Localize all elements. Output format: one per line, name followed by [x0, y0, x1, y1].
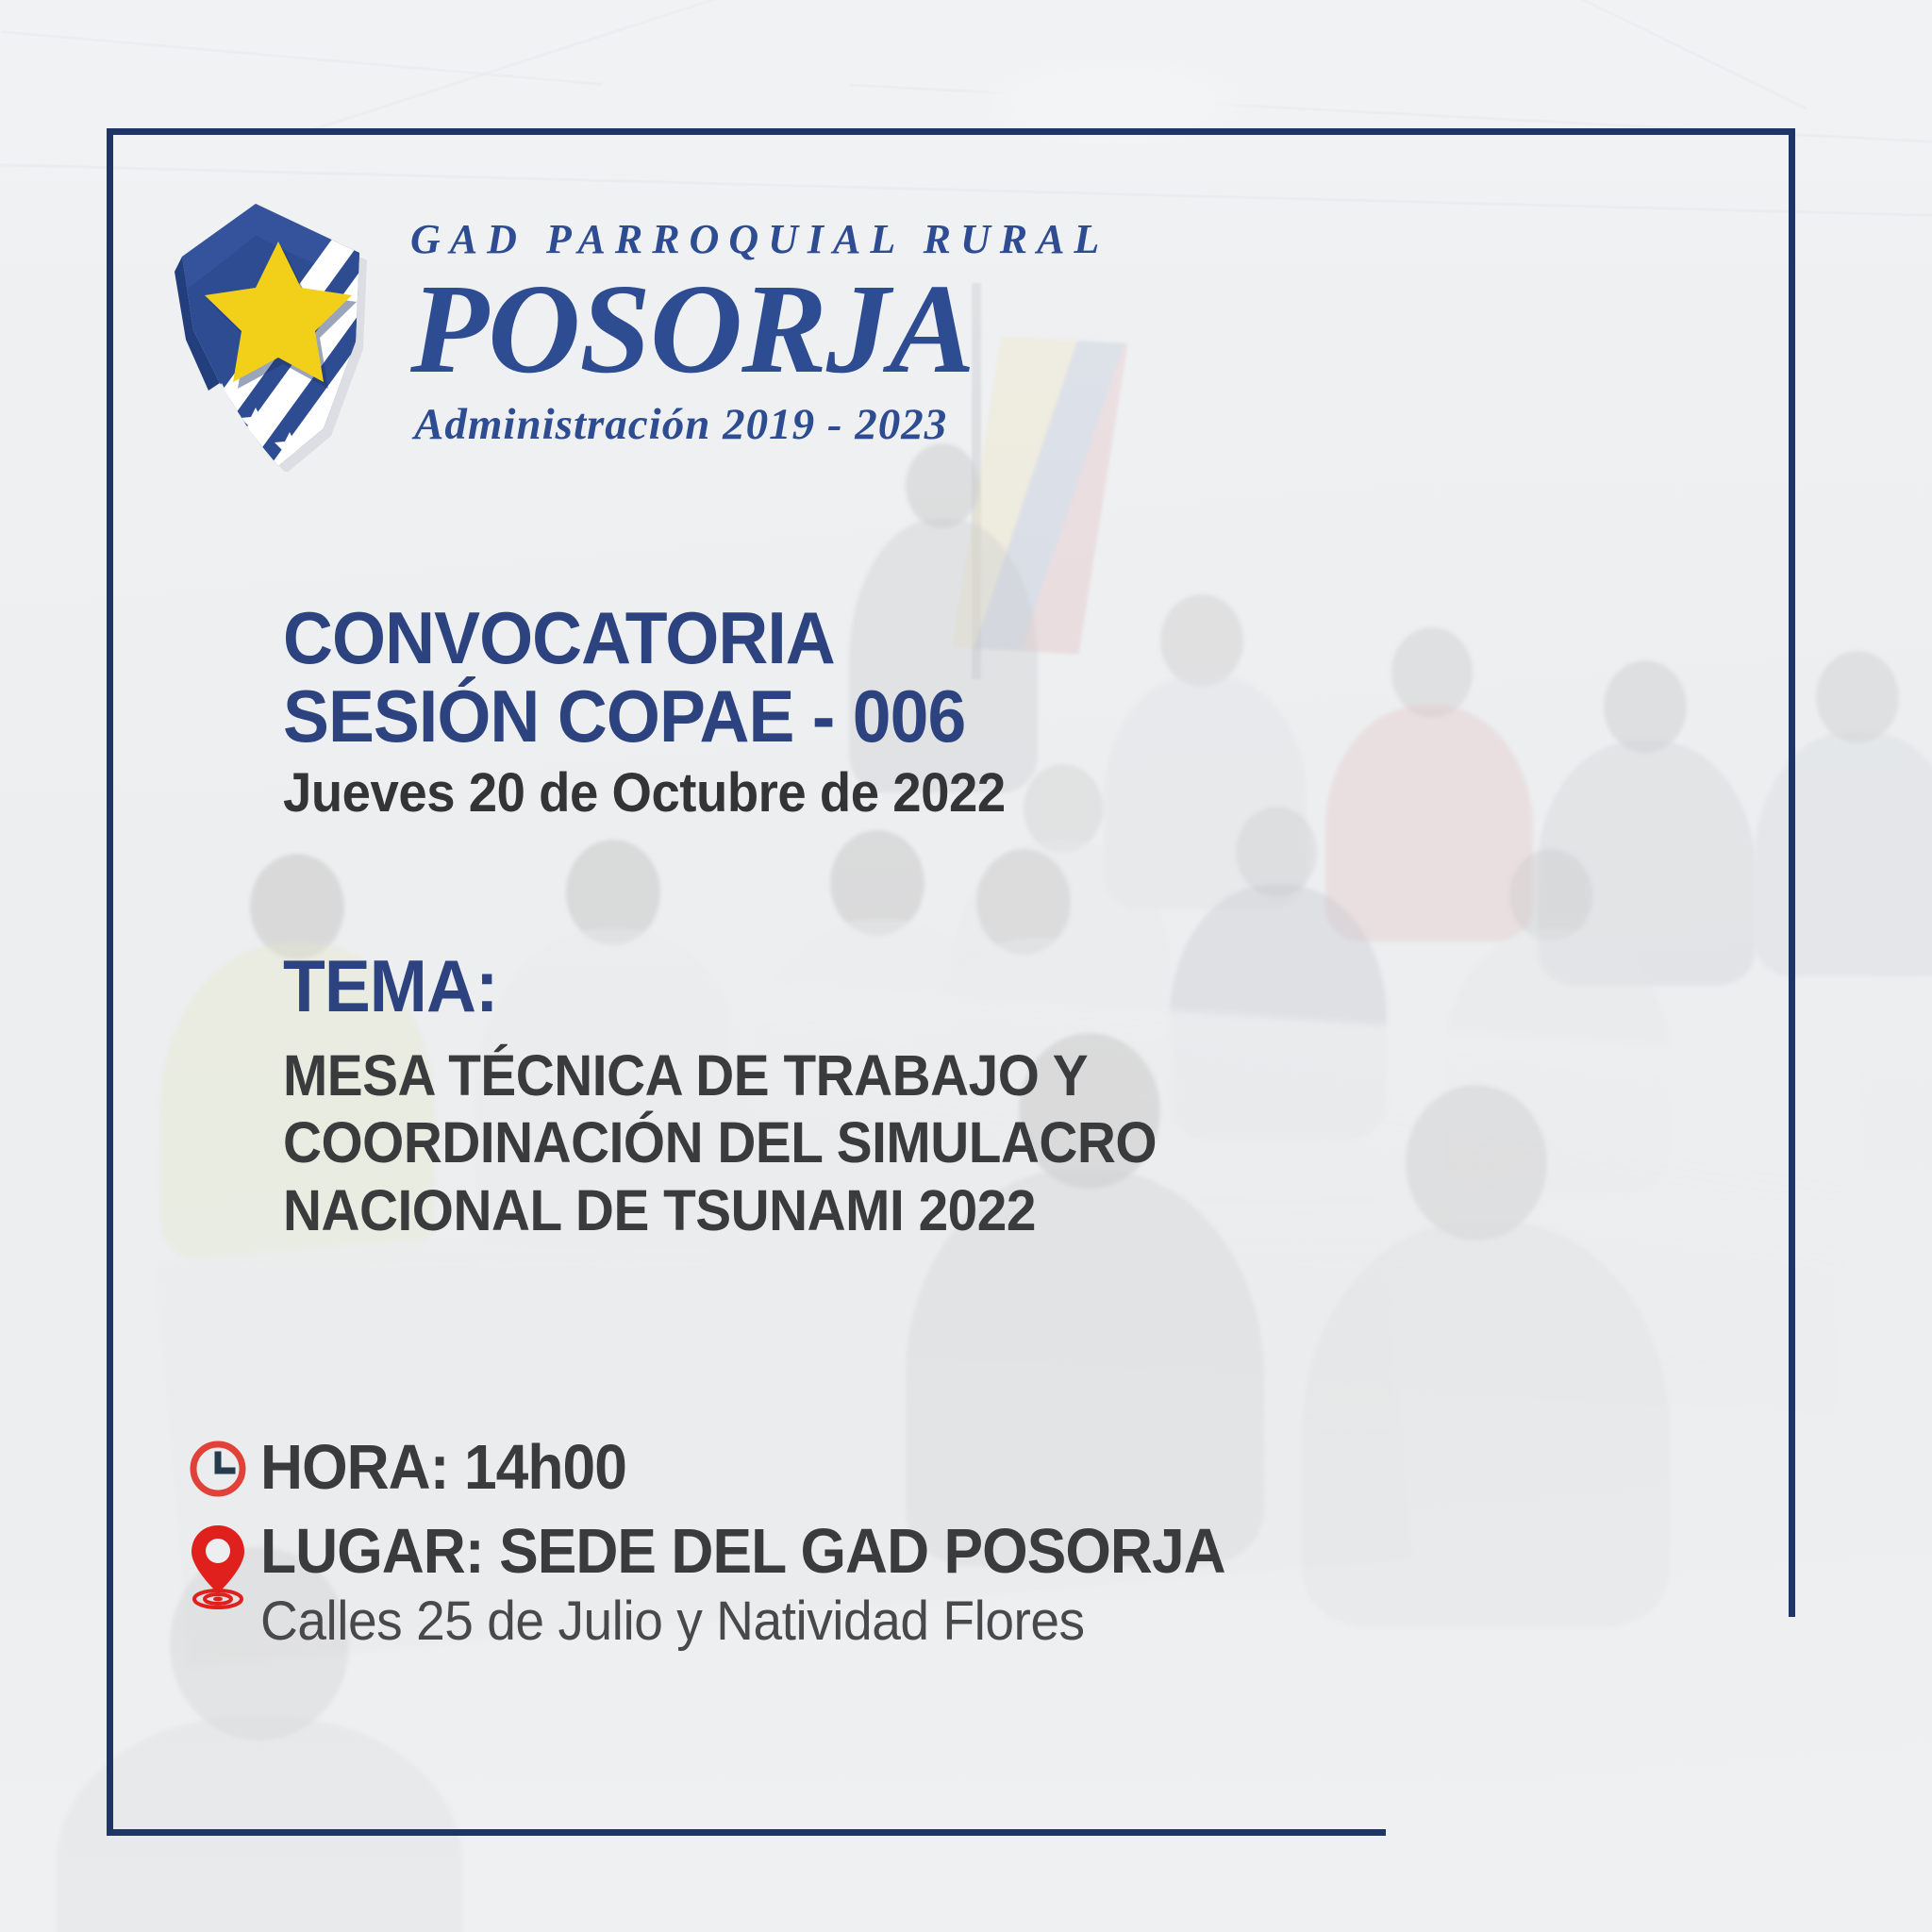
heading-line-1: CONVOCATORIA: [283, 599, 1006, 677]
detail-row-place: LUGAR: SEDE DEL GAD POSORJA Calles 25 de…: [185, 1518, 1298, 1653]
location-pin-icon-wrap: [185, 1518, 251, 1614]
shield-star-emblem-icon: [165, 198, 391, 472]
detail-text-place: LUGAR: SEDE DEL GAD POSORJA Calles 25 de…: [251, 1518, 1298, 1653]
logo-name: POSORJA: [410, 264, 1108, 395]
event-date: Jueves 20 de Octubre de 2022: [283, 762, 1006, 825]
logo-administration: Administración 2019 - 2023: [414, 403, 1108, 447]
poster-content: GAD PARROQUIAL RURAL POSORJA Administrac…: [0, 0, 1932, 1932]
detail-row-time: HORA: 14h00: [185, 1434, 1298, 1501]
announcement-heading: CONVOCATORIA SESIÓN COPAE - 006 Jueves 2…: [283, 599, 1052, 825]
logo-lockup: GAD PARROQUIAL RURAL POSORJA Administrac…: [165, 198, 1108, 472]
event-details: HORA: 14h00 LUGAR: SEDE DEL GAD POSORJA …: [185, 1434, 1298, 1653]
detail-text-time: HORA: 14h00: [251, 1434, 654, 1501]
topic-line: MESA TÉCNICA DE TRABAJO Y: [283, 1042, 1157, 1109]
topic-section: TEMA: MESA TÉCNICA DE TRABAJO Y COORDINA…: [283, 948, 1223, 1244]
clock-icon-wrap: [185, 1434, 251, 1498]
logo-text-block: GAD PARROQUIAL RURAL POSORJA Administrac…: [410, 198, 1108, 447]
topic-line: NACIONAL DE TSUNAMI 2022: [283, 1177, 1157, 1244]
topic-body: MESA TÉCNICA DE TRABAJO Y COORDINACIÓN D…: [283, 1042, 1157, 1244]
logo-kicker: GAD PARROQUIAL RURAL: [410, 219, 1108, 260]
place-value: LUGAR: SEDE DEL GAD POSORJA: [260, 1518, 1225, 1585]
topic-label: TEMA:: [283, 948, 1166, 1025]
clock-icon: [189, 1440, 247, 1498]
time-value: HORA: 14h00: [260, 1434, 626, 1501]
location-pin-icon: [189, 1524, 247, 1614]
place-address: Calles 25 de Julio y Natividad Flores: [260, 1591, 1246, 1653]
heading-line-2: SESIÓN COPAE - 006: [283, 677, 1006, 756]
topic-line: COORDINACIÓN DEL SIMULACRO: [283, 1109, 1157, 1176]
